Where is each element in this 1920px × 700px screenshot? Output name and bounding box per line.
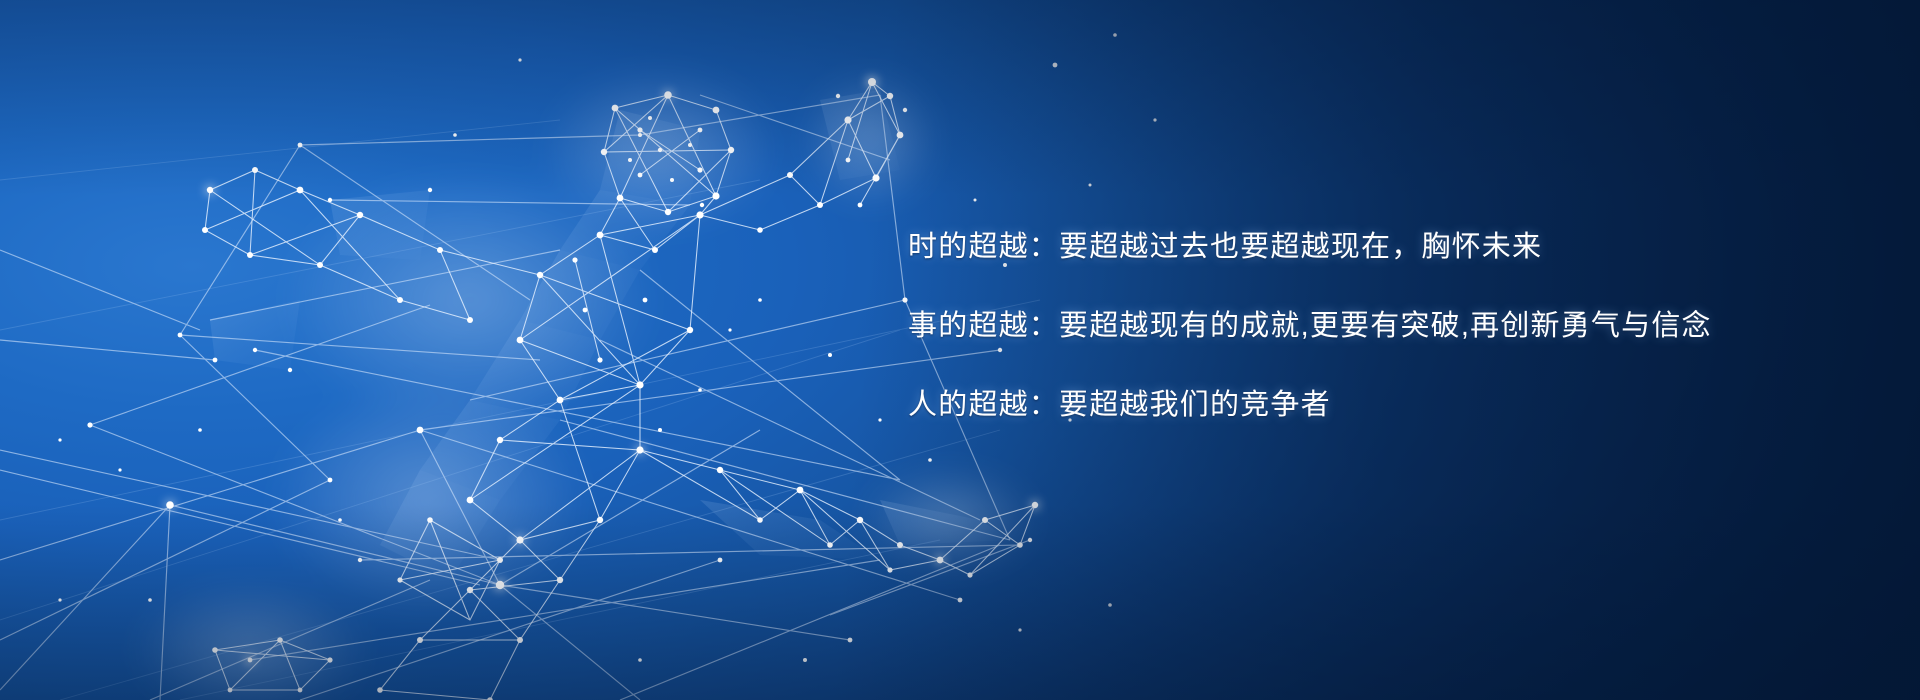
banner-stage: 时的超越：要超越过去也要超越现在，胸怀未来 事的超越：要超越现有的成就,更要有突… <box>0 0 1920 700</box>
slogan-line-time: 时的超越：要超越过去也要超越现在，胸怀未来 <box>908 232 1808 262</box>
slogan-line-matter: 事的超越：要超越现有的成就,更要有突破,再创新勇气与信念 <box>908 311 1808 341</box>
slogan-text-block: 时的超越：要超越过去也要超越现在，胸怀未来 事的超越：要超越现有的成就,更要有突… <box>908 232 1808 420</box>
slogan-line-people: 人的超越：要超越我们的竞争者 <box>908 390 1808 420</box>
